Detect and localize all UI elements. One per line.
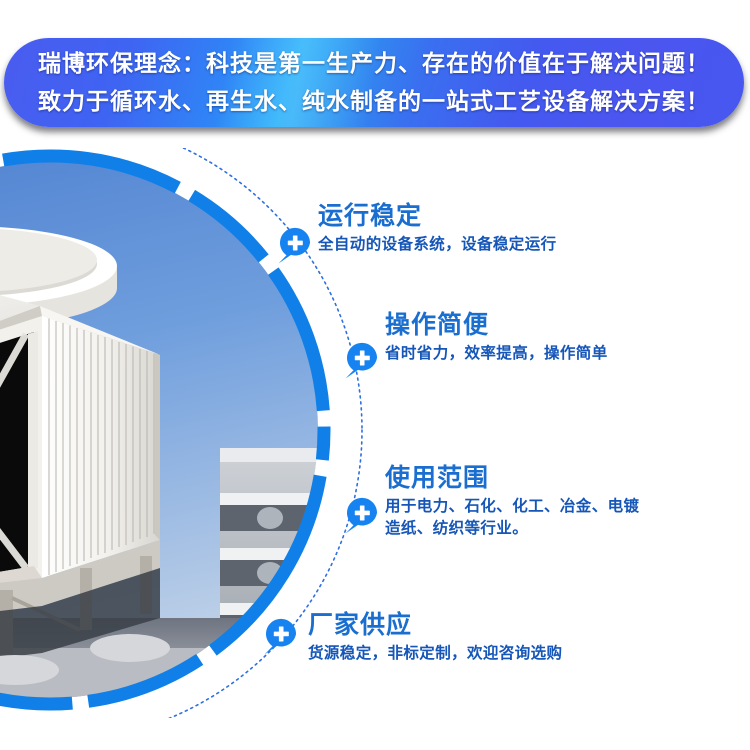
plus-pin-icon [341,340,383,382]
feature-item-3: 使用范围 用于电力、石化、化工、冶金、电镀 造纸、纺织等行业。 [385,465,639,540]
feature-title: 运行稳定 [318,203,557,231]
feature-subtitle-line: 货源稳定，非标定制，欢迎咨询选购 [308,643,562,665]
feature-subtitle-line: 省时省力，效率提高，操作简单 [385,343,608,365]
headline-banner-pill: 瑞博环保理念：科技是第一生产力、存在的价值在于解决问题！ 致力于循环水、再生水、… [4,38,744,127]
feature-item-2: 操作简便 省时省力，效率提高，操作简单 [385,312,608,365]
feature-item-4: 厂家供应 货源稳定，非标定制，欢迎咨询选购 [308,612,562,665]
headline-line-1: 瑞博环保理念：科技是第一生产力、存在的价值在于解决问题！ [38,45,710,82]
headline-line-2: 致力于循环水、再生水、纯水制备的一站式工艺设备解决方案！ [38,83,710,120]
feature-title: 操作简便 [385,312,608,340]
headline-banner-text: 瑞博环保理念：科技是第一生产力、存在的价值在于解决问题！ 致力于循环水、再生水、… [4,38,744,127]
plus-pin-icon [260,616,302,658]
promo-banner-page: 瑞博环保理念：科技是第一生产力、存在的价值在于解决问题！ 致力于循环水、再生水、… [0,0,750,750]
headline-banner: 瑞博环保理念：科技是第一生产力、存在的价值在于解决问题！ 致力于循环水、再生水、… [4,38,744,128]
feature-subtitle-line: 全自动的设备系统，设备稳定运行 [318,234,557,256]
tower-louver-face [0,316,42,618]
feature-title: 使用范围 [385,465,639,493]
feature-subtitle-line: 用于电力、石化、化工、冶金、电镀 [385,496,639,518]
feature-title: 厂家供应 [308,612,562,640]
plus-pin-icon [274,225,316,267]
feature-subtitle-line: 造纸、纺织等行业。 [385,518,639,540]
tower-corrugated-face [42,316,160,578]
plus-pin-icon [341,495,383,537]
feature-item-1: 运行稳定 全自动的设备系统，设备稳定运行 [318,203,557,256]
